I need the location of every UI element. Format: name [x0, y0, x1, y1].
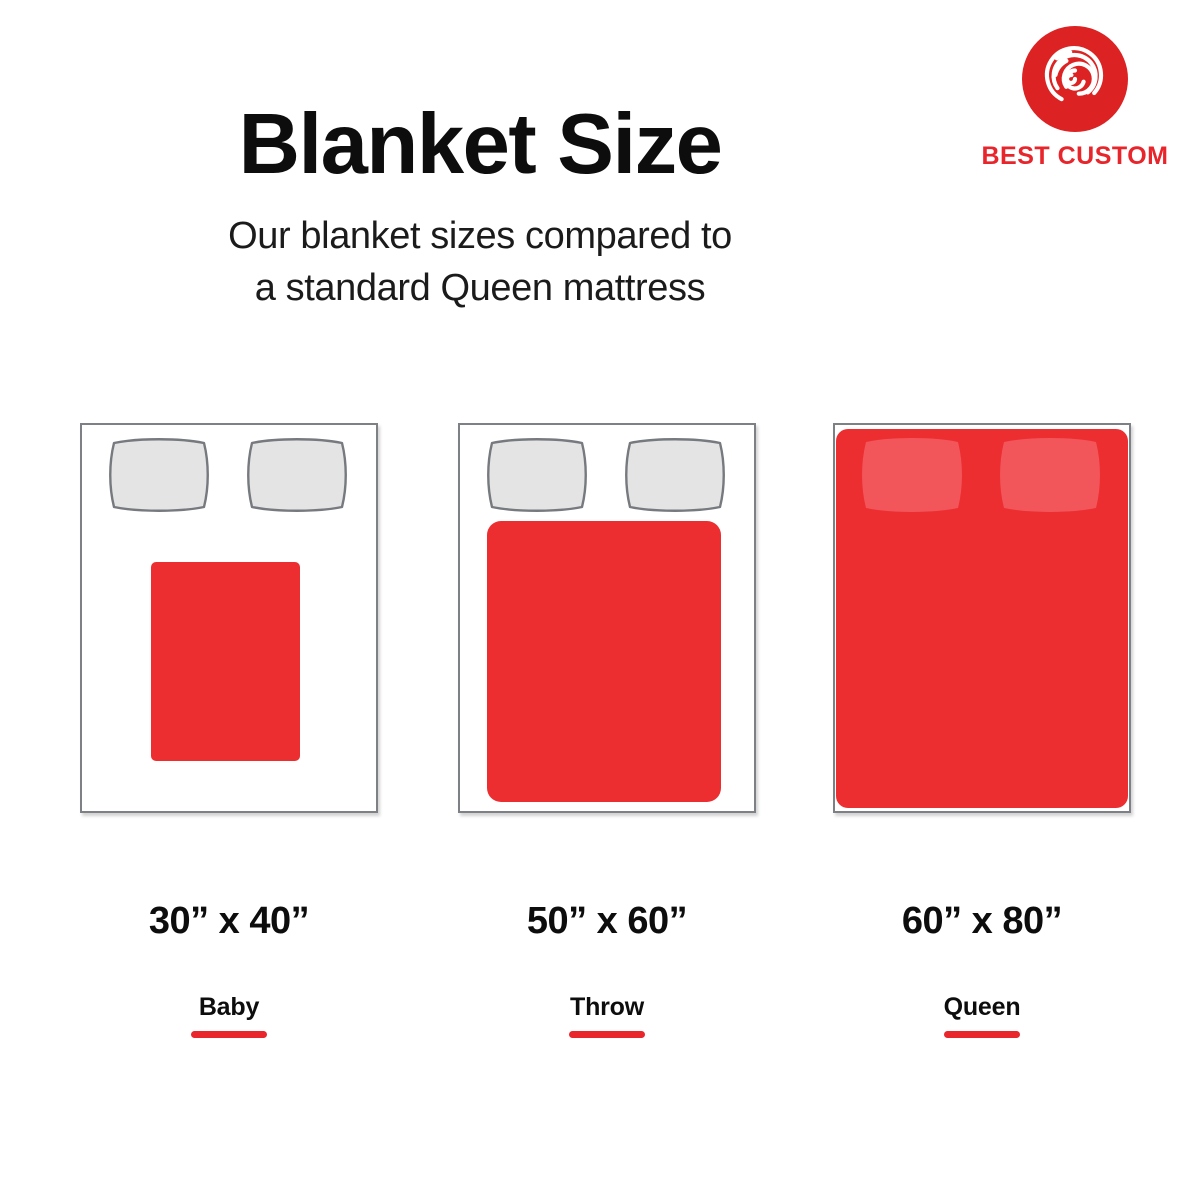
caption-queen: 60” x 80” Queen — [833, 900, 1131, 1038]
subtitle-line-1: Our blanket sizes compared to — [0, 211, 960, 262]
caption-dimensions-queen: 60” x 80” — [833, 900, 1131, 943]
pillow-left-baby — [108, 437, 210, 513]
bed-diagram-queen — [833, 423, 1131, 813]
caption-row: 30” x 40” Baby 50” x 60” Throw 60” x 80”… — [0, 900, 1200, 1060]
caption-dimensions-throw: 50” x 60” — [458, 900, 756, 943]
pillow-left-throw — [486, 437, 588, 513]
header-block: Blanket Size Our blanket sizes compared … — [0, 100, 960, 314]
caption-throw: 50” x 60” Throw — [458, 900, 756, 1038]
pillow-right-queen — [999, 437, 1101, 513]
page-subtitle: Our blanket sizes compared to a standard… — [0, 211, 960, 314]
caption-dimensions-baby: 30” x 40” — [80, 900, 378, 943]
caption-underline-baby — [191, 1031, 267, 1038]
caption-label-throw: Throw — [458, 993, 756, 1022]
bed-diagram-baby — [80, 423, 378, 813]
brand-circle — [1022, 26, 1128, 132]
subtitle-line-2: a standard Queen mattress — [0, 263, 960, 314]
fingerprint-icon — [1035, 39, 1115, 119]
pillow-left-queen — [861, 437, 963, 513]
caption-baby: 30” x 40” Baby — [80, 900, 378, 1038]
blanket-baby — [151, 562, 300, 761]
page-title: Blanket Size — [0, 100, 960, 189]
brand-name: BEST CUSTOM — [980, 142, 1170, 171]
pillow-right-baby — [246, 437, 348, 513]
blanket-throw — [487, 521, 721, 802]
bed-comparison-row — [0, 423, 1200, 813]
caption-underline-throw — [569, 1031, 645, 1038]
caption-label-baby: Baby — [80, 993, 378, 1022]
brand-logo: BEST CUSTOM — [980, 26, 1170, 171]
caption-label-queen: Queen — [833, 993, 1131, 1022]
bed-diagram-throw — [458, 423, 756, 813]
caption-underline-queen — [944, 1031, 1020, 1038]
pillow-right-throw — [624, 437, 726, 513]
